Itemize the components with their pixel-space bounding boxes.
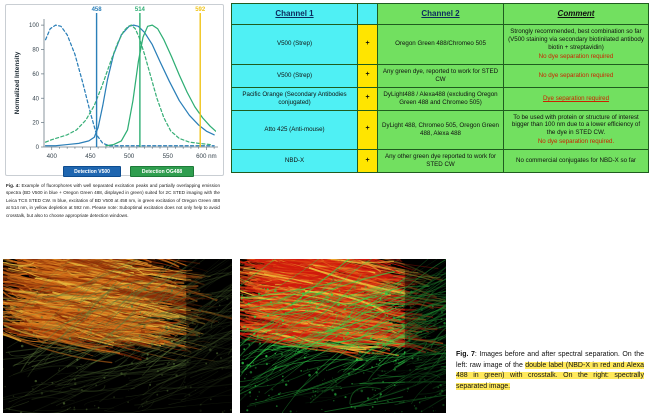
header-comment: Comment [504, 4, 649, 25]
microscopy-image-separated [239, 258, 447, 414]
table-row: V500 (Strep)+Oregon Green 488/Chromeo 50… [232, 25, 649, 65]
cell-channel-1: Pacific Orange (Secondary Antibodies con… [232, 87, 358, 110]
x-tick-label: 500 [124, 153, 135, 160]
cell-plus-symbol: + [358, 25, 378, 65]
cell-comment: Strongly recommended, best combination s… [504, 25, 649, 65]
y-tick-label: 60 [32, 72, 39, 78]
y-tick-label: 0 [36, 145, 40, 151]
screenshot-root: 020406080100 400450500550600 nm Normaliz… [0, 0, 650, 416]
y-tick-label: 40 [32, 96, 39, 102]
y-tick-label: 20 [32, 121, 39, 127]
comment-note-text: No dye separation required [507, 72, 645, 80]
x-tick-label: 400 [47, 153, 58, 160]
figure-4-caption-label: Fig. 4: [6, 183, 20, 188]
excitation-marker-label: 514 [135, 7, 146, 13]
header-channel-1: Channel 1 [232, 4, 358, 25]
figure-7-caption: Fig. 7: Images before and after spectral… [456, 350, 644, 392]
microscopy-image-raw-crosstalk [2, 258, 233, 414]
cell-plus-symbol: + [358, 64, 378, 87]
cell-channel-1: V500 (Strep) [232, 64, 358, 87]
legend-detection-v500: Detection V500 [63, 166, 121, 177]
figure-4-caption: Fig. 4: Example of fluorophores with wel… [6, 182, 220, 219]
comment-note-text: No dye separation required [507, 53, 645, 61]
table-row: Pacific Orange (Secondary Antibodies con… [232, 87, 649, 110]
cell-channel-2: DyLight488 / Alexa488 (excluding Oregon … [378, 87, 504, 110]
cell-plus-symbol: + [358, 110, 378, 150]
table-row: NBD-X+Any other green dye reported to wo… [232, 150, 649, 173]
cell-channel-2: Oregon Green 488/Chromeo 505 [378, 25, 504, 65]
comment-main-text: To be used with protein or structure of … [512, 114, 640, 137]
spectra-plot-svg: 020406080100 400450500550600 nm Normaliz… [6, 5, 223, 175]
cell-comment: To be used with protein or structure of … [504, 110, 649, 150]
x-tick-label: 550 [163, 153, 174, 160]
header-plus-spacer [358, 4, 378, 25]
x-tick-label: 600 nm [196, 153, 217, 160]
dye-combination-table: Channel 1 Channel 2 Comment V500 (Strep)… [231, 3, 649, 173]
table-row: Atto 425 (Anti-mouse)+DyLight 488, Chrom… [232, 110, 649, 150]
cell-channel-2: Any other green dye reported to work for… [378, 150, 504, 173]
figure-4-caption-text: Example of fluorophores with well separa… [6, 183, 220, 218]
cell-channel-1: NBD-X [232, 150, 358, 173]
spectra-curve [46, 25, 215, 146]
spectra-curve [106, 25, 216, 146]
table-header-row: Channel 1 Channel 2 Comment [232, 4, 649, 25]
excitation-marker-label: 458 [92, 7, 103, 13]
figure-7-caption-label: Fig. 7 [456, 351, 475, 358]
detection-window-legend: Detection V500 Detection OG488 [5, 166, 224, 179]
comment-note-text: No dye separation required. [507, 138, 645, 146]
figure-4-panel: 020406080100 400450500550600 nm Normaliz… [0, 0, 228, 252]
x-tick-label: 450 [85, 153, 96, 160]
cell-plus-symbol: + [358, 87, 378, 110]
cell-channel-1: V500 (Strep) [232, 25, 358, 65]
spectra-chart: 020406080100 400450500550600 nm Normaliz… [5, 4, 224, 176]
cell-channel-1: Atto 425 (Anti-mouse) [232, 110, 358, 150]
cell-comment: No commercial conjugates for NBD-X so fa… [504, 150, 649, 173]
excitation-marker-label: 592 [195, 7, 206, 13]
legend-detection-og488: Detection OG488 [130, 166, 194, 177]
cell-channel-2: Any green dye, reported to work for STED… [378, 64, 504, 87]
dye-combination-table-wrapper: Channel 1 Channel 2 Comment V500 (Strep)… [228, 0, 650, 252]
header-channel-2: Channel 2 [378, 4, 504, 25]
cell-channel-2: DyLight 488, Chromeo 505, Oregon Green 4… [378, 110, 504, 150]
y-tick-label: 80 [32, 48, 39, 54]
comment-main-text: No commercial conjugates for NBD-X so fa… [516, 157, 636, 164]
table-row: V500 (Strep)+Any green dye, reported to … [232, 64, 649, 87]
cell-plus-symbol: + [358, 150, 378, 173]
comment-main-text: Strongly recommended, best combination s… [508, 28, 644, 51]
y-axis-title: Normalized Intensity [14, 51, 21, 114]
cell-comment: Dye separation required [504, 87, 649, 110]
table-body: V500 (Strep)+Oregon Green 488/Chromeo 50… [232, 25, 649, 173]
y-tick-label: 100 [29, 23, 40, 29]
cell-comment: No dye separation required [504, 64, 649, 87]
comment-note-text: Dye separation required [507, 95, 645, 103]
